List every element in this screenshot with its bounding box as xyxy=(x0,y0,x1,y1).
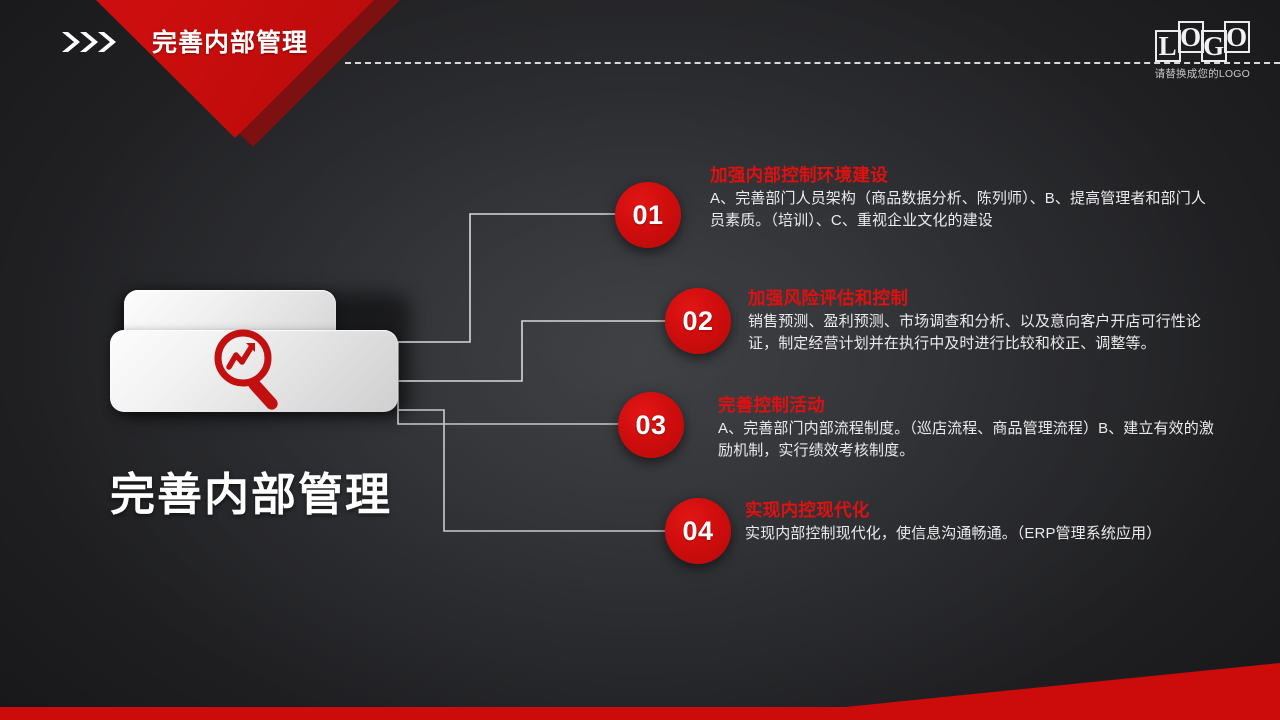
connector-line-01 xyxy=(336,214,625,342)
item-heading-04: 实现内控现代化 xyxy=(745,500,1205,521)
item-block-02: 加强风险评估和控制 销售预测、盈利预测、市场调查和分析、以及意向客户开店可行性论… xyxy=(748,288,1203,354)
connector-line-02 xyxy=(398,321,672,381)
item-body-03: A、完善部门内部流程制度。（巡店流程、商品管理流程）B、建立有效的激励机制，实行… xyxy=(718,418,1218,461)
page-title: 完善内部管理 xyxy=(152,23,308,59)
step-circle-04[interactable]: 04 xyxy=(665,498,731,564)
step-circle-03[interactable]: 03 xyxy=(618,392,684,458)
item-block-01: 加强内部控制环境建设 A、完善部门人员架构（商品数据分析、陈列师）、B、提高管理… xyxy=(710,165,1220,231)
step-circle-02[interactable]: 02 xyxy=(665,288,731,354)
item-block-03: 完善控制活动 A、完善部门内部流程制度。（巡店流程、商品管理流程）B、建立有效的… xyxy=(718,395,1218,461)
item-body-01: A、完善部门人员架构（商品数据分析、陈列师）、B、提高管理者和部门人员素质。（培… xyxy=(710,188,1220,231)
magnifier-chart-icon xyxy=(205,325,297,418)
item-heading-01: 加强内部控制环境建设 xyxy=(710,165,1220,186)
step-circle-01[interactable]: 01 xyxy=(615,182,681,248)
item-body-02: 销售预测、盈利预测、市场调查和分析、以及意向客户开店可行性论证，制定经营计划并在… xyxy=(748,311,1203,354)
item-body-04: 实现内部控制现代化，使信息沟通畅通。（ERP管理系统应用） xyxy=(745,523,1205,545)
slide-canvas: 完善内部管理 L O G O 请替换成您的LOGO 完善内部管理 0 xyxy=(0,0,1280,720)
item-heading-02: 加强风险评估和控制 xyxy=(748,288,1203,309)
item-heading-03: 完善控制活动 xyxy=(718,395,1218,416)
item-block-04: 实现内控现代化 实现内部控制现代化，使信息沟通畅通。（ERP管理系统应用） xyxy=(745,500,1205,545)
triple-chevron-right-icon xyxy=(60,30,122,54)
